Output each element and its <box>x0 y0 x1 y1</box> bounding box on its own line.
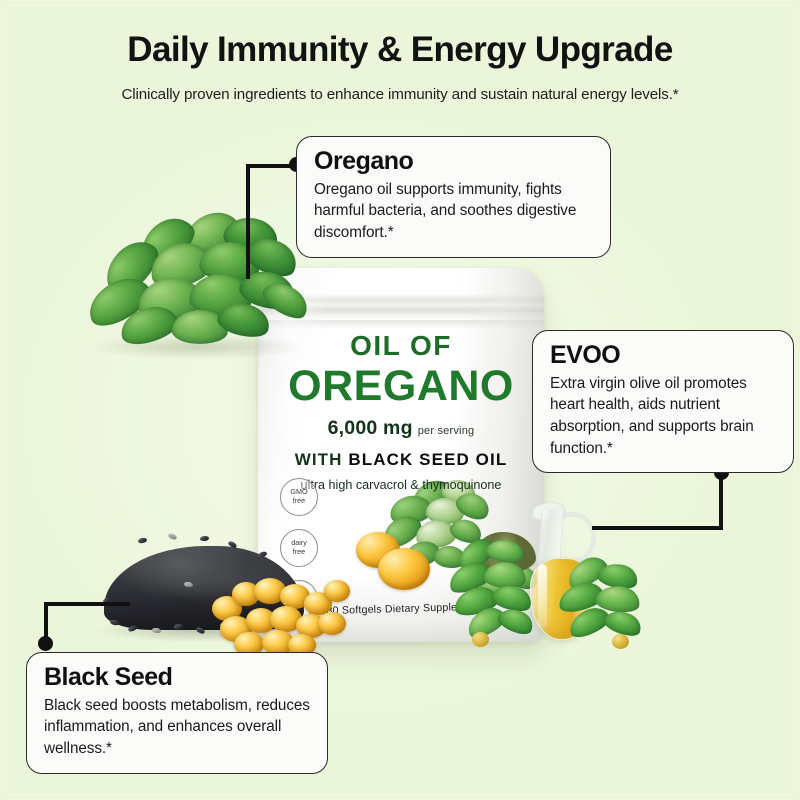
label-dosage-unit: per serving <box>418 425 475 437</box>
callout-card-black-seed: Black Seed Black seed boosts metabolism,… <box>26 652 328 774</box>
header: Daily Immunity & Energy Upgrade Clinical… <box>0 30 800 103</box>
badge-line-2: free <box>293 497 305 506</box>
callout-body: Black seed boosts metabolism, reduces in… <box>44 695 311 760</box>
connector-segment-horizontal <box>592 526 723 530</box>
callout-card-evoo: EVOO Extra virgin olive oil promotes hea… <box>532 330 794 473</box>
softgel-heap-image <box>212 578 347 656</box>
callout-card-oregano: Oregano Oregano oil supports immunity, f… <box>296 136 611 258</box>
label-dosage-row: 6,000 mg per serving <box>258 417 544 440</box>
callout-body: Oregano oil supports immunity, fights ha… <box>314 179 594 244</box>
infographic-canvas: Daily Immunity & Energy Upgrade Clinical… <box>0 0 800 800</box>
callout-title: Oregano <box>314 148 594 176</box>
label-with-emphasis: BLACK SEED OIL <box>348 450 507 469</box>
callout-body: Extra virgin olive oil promotes heart he… <box>550 373 777 460</box>
olive-fruit <box>612 634 629 649</box>
callout-title: EVOO <box>550 342 777 370</box>
connector-segment-vertical <box>719 472 723 530</box>
olive-fruit <box>472 632 489 647</box>
label-with-black-seed-oil: WITH BLACK SEED OIL <box>258 450 544 470</box>
mint-sprig-right-image <box>556 560 652 656</box>
callout-title: Black Seed <box>44 664 311 692</box>
badge-gmo-free: GMO free <box>280 478 318 516</box>
label-dosage-amount: 6,000 mg <box>328 417 413 440</box>
page-subtitle: Clinically proven ingredients to enhance… <box>0 86 800 103</box>
connector-segment-horizontal <box>44 602 130 606</box>
label-with-prefix: WITH <box>295 450 349 469</box>
connector-endpoint-dot <box>38 636 53 651</box>
oregano-bunch-image <box>76 212 316 372</box>
page-title: Daily Immunity & Energy Upgrade <box>0 30 800 69</box>
connector-segment-vertical <box>246 164 250 279</box>
cruet-handle <box>560 512 596 564</box>
mint-sprig-left-image <box>448 540 544 648</box>
